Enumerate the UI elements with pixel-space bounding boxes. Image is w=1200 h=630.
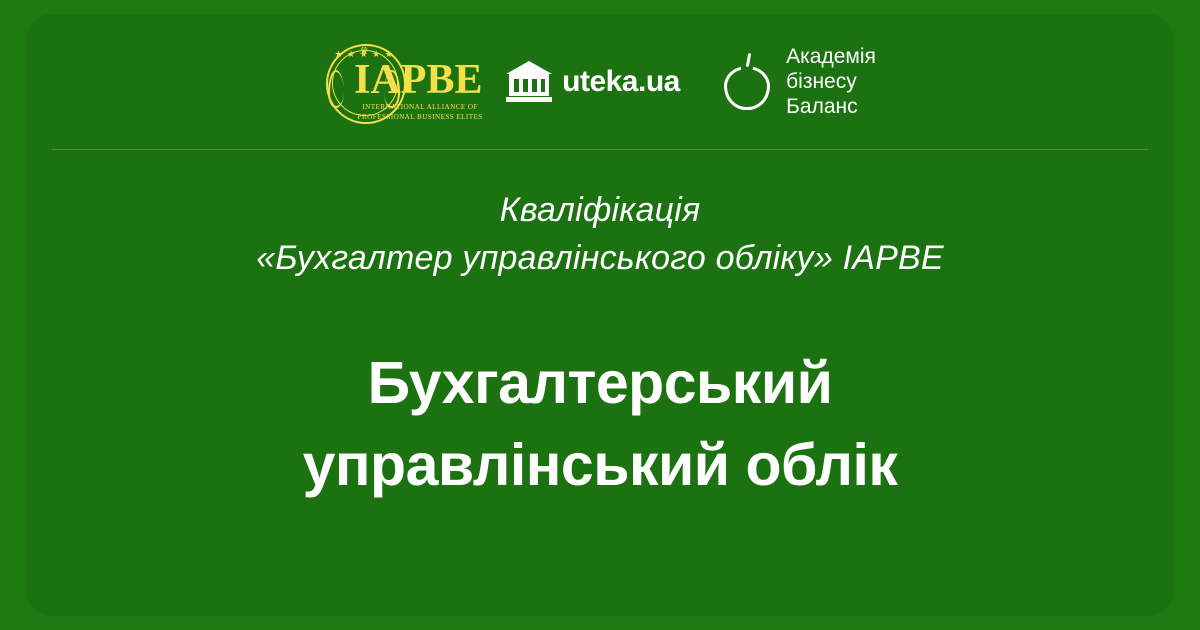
title-line-1: Бухгалтерський <box>0 342 1200 424</box>
subtitle-line-2: «Бухгалтер управлінського обліку» IAPBE <box>0 234 1200 282</box>
iapbe-tagline-line1: INTERNATIONAL ALLIANCE OF <box>348 103 492 111</box>
logo-strip: ♛ ★ ★ ★ ★ ★ IAPBE INTERNATIONAL ALLIANCE… <box>26 14 1174 149</box>
subtitle-line-1: Кваліфікація <box>0 186 1200 234</box>
poster-subtitle: Кваліфікація «Бухгалтер управлінського о… <box>0 186 1200 282</box>
balans-academy-logo: Академія бізнесу Баланс <box>722 44 876 119</box>
uteka-building-icon <box>506 61 552 103</box>
balans-academy-text: Академія бізнесу Баланс <box>786 44 876 119</box>
iapbe-tagline-line2: PROFESSIONAL BUSINESS ELITES <box>348 113 492 121</box>
balans-line-3: Баланс <box>786 94 876 119</box>
iapbe-wordmark: IAPBE <box>354 58 482 102</box>
uteka-wordmark: uteka.ua <box>562 65 680 99</box>
title-line-2: управлінський облік <box>0 424 1200 506</box>
iapbe-logo: ♛ ★ ★ ★ ★ ★ IAPBE INTERNATIONAL ALLIANCE… <box>324 40 492 124</box>
poster-title: Бухгалтерський управлінський облік <box>0 342 1200 506</box>
header-divider <box>52 149 1148 150</box>
uteka-logo: uteka.ua <box>506 52 696 112</box>
balans-line-1: Академія <box>786 44 876 69</box>
apple-icon <box>722 53 774 111</box>
poster-banner: ♛ ★ ★ ★ ★ ★ IAPBE INTERNATIONAL ALLIANCE… <box>0 0 1200 630</box>
balans-line-2: бізнесу <box>786 69 876 94</box>
